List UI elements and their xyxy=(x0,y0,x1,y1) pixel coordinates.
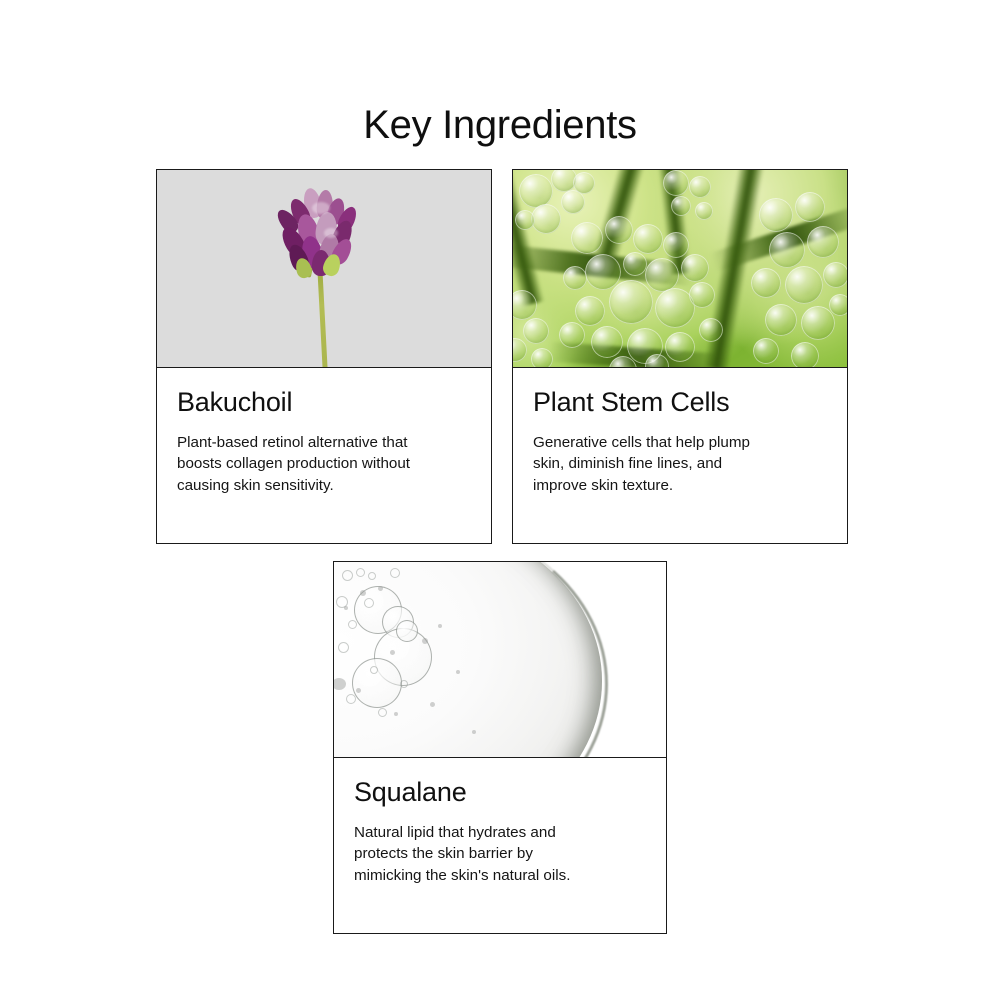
ingredient-card-squalane[interactable]: Squalane Natural lipid that hydrates and… xyxy=(333,561,667,934)
plant-stem-cells-microscopy-photo xyxy=(513,170,847,368)
flower-stem xyxy=(317,262,328,368)
ingredient-heading: Bakuchoil xyxy=(177,388,471,418)
ingredient-description: Plant-based retinol alternative that boo… xyxy=(177,432,469,497)
card-body: Plant Stem Cells Generative cells that h… xyxy=(513,368,847,496)
ingredient-description: Natural lipid that hydrates and protects… xyxy=(354,822,646,887)
ingredient-card-bakuchoil[interactable]: Bakuchoil Plant-based retinol alternativ… xyxy=(156,169,492,544)
bakuchoil-flower-photo xyxy=(157,170,491,368)
key-ingredients-page: Key Ingredients xyxy=(0,0,1000,1000)
card-body: Squalane Natural lipid that hydrates and… xyxy=(334,758,666,886)
card-body: Bakuchoil Plant-based retinol alternativ… xyxy=(157,368,491,496)
squalane-gel-droplet-photo xyxy=(334,562,666,758)
ingredient-card-plant-stem-cells[interactable]: Plant Stem Cells Generative cells that h… xyxy=(512,169,848,544)
ingredient-heading: Squalane xyxy=(354,778,646,808)
page-title: Key Ingredients xyxy=(0,103,1000,147)
ingredient-description: Generative cells that help plump skin, d… xyxy=(533,432,825,497)
flower-head xyxy=(272,188,368,274)
ingredient-heading: Plant Stem Cells xyxy=(533,388,827,418)
